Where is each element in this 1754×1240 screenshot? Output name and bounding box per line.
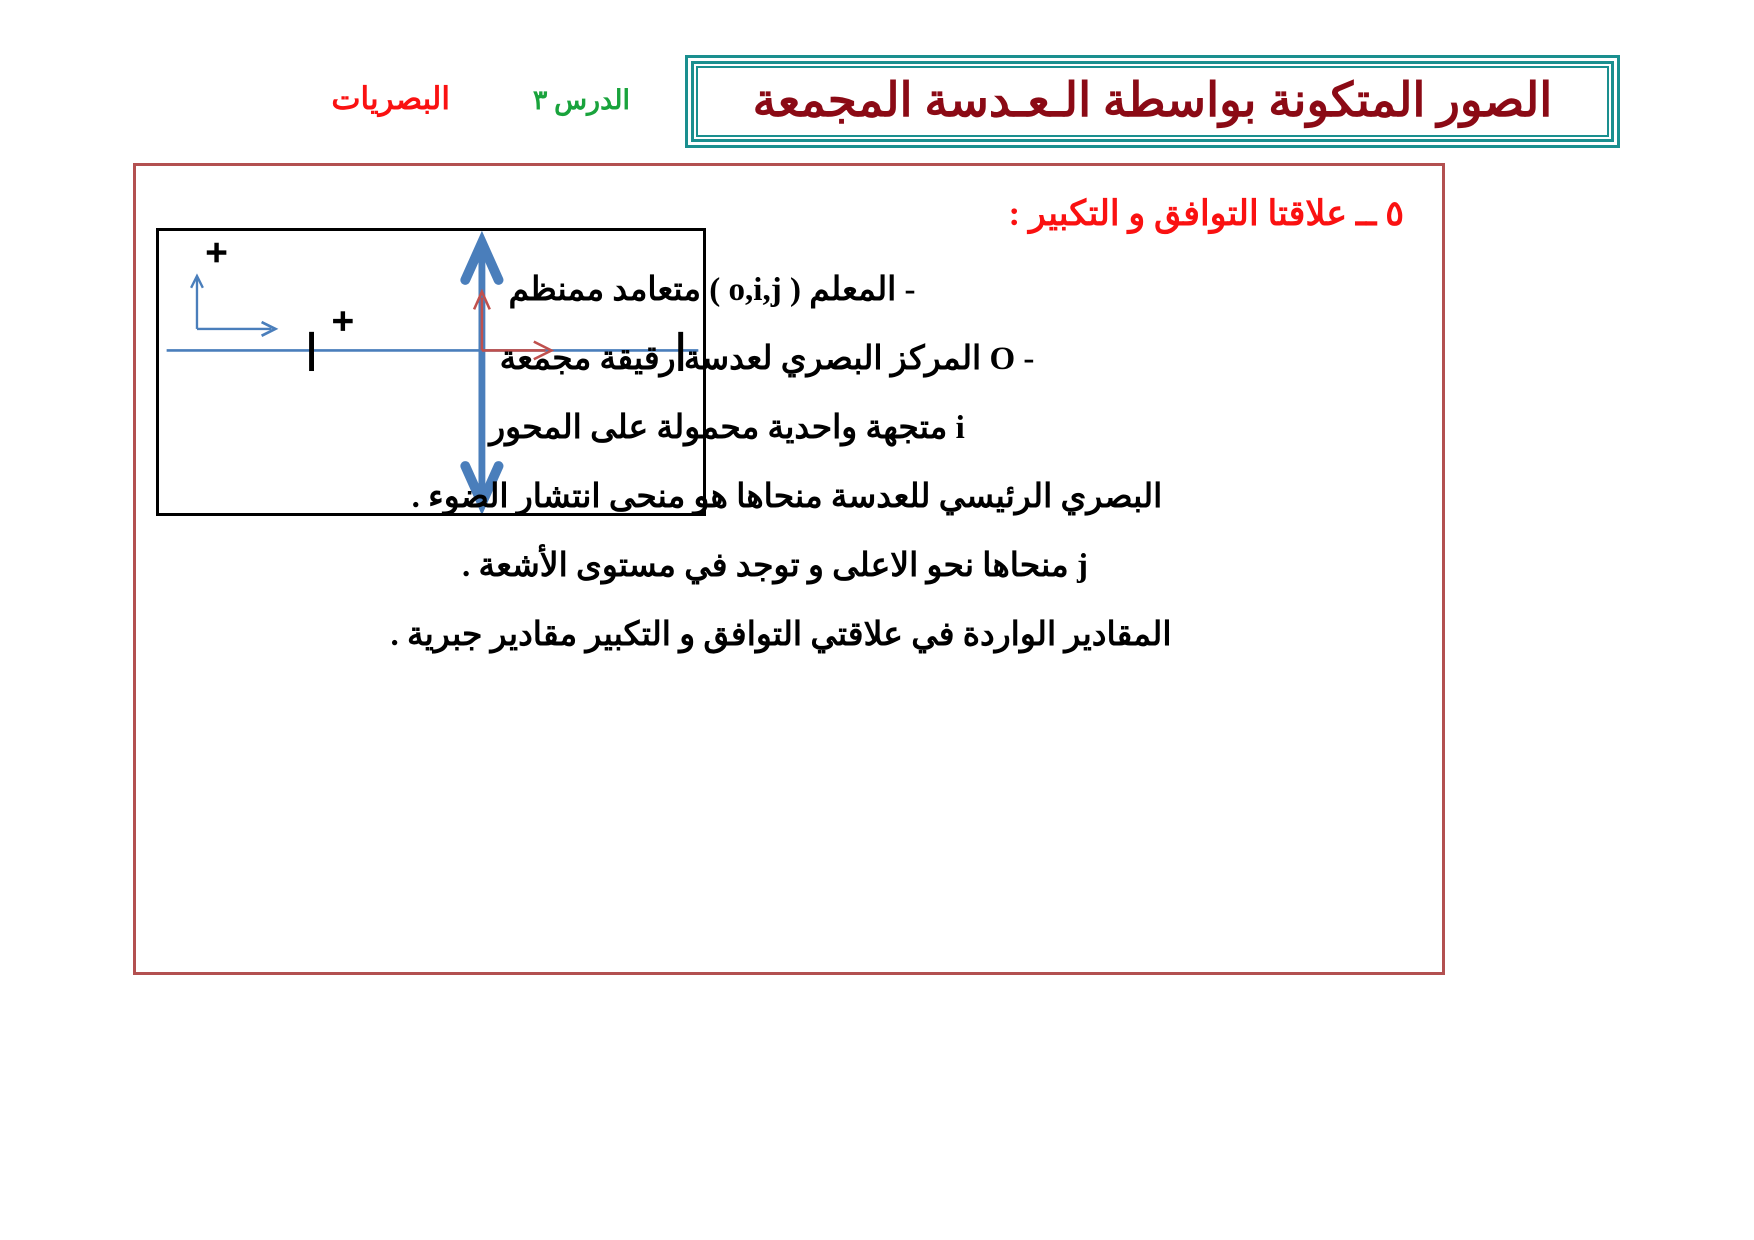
section-heading: ٥ ــ علاقتا التوافق و التكبير :: [1009, 194, 1405, 234]
title-box-border-inner: الصور المتكونة بواسطة الـعـدسة المجمعة: [696, 66, 1609, 137]
content-frame: ٥ ــ علاقتا التوافق و التكبير :: [133, 163, 1445, 975]
body-line-3: i متجهة واحدية محمولة على المحور: [152, 412, 1422, 445]
slide-canvas: الصور المتكونة بواسطة الـعـدسة المجمعة ا…: [0, 0, 1754, 1240]
body-line-2: - O المركز البصري لعدسة رقيقة مجمعة: [152, 343, 1422, 376]
subject-label: البصريات: [331, 81, 450, 117]
page-title: الصور المتكونة بواسطة الـعـدسة المجمعة: [753, 78, 1553, 125]
body-text-block: - المعلم ( o,i,j ) متعامد ممنظم - O المر…: [152, 274, 1422, 688]
title-box-border-middle: الصور المتكونة بواسطة الـعـدسة المجمعة: [691, 61, 1614, 142]
slide-header: الصور المتكونة بواسطة الـعـدسة المجمعة ا…: [150, 55, 1620, 150]
body-line-1: - المعلم ( o,i,j ) متعامد ممنظم: [152, 274, 1422, 307]
body-line-6: المقادير الواردة في علاقتي التوافق و الت…: [152, 619, 1422, 652]
body-line-5: j منحاها نحو الاعلى و توجد في مستوى الأش…: [152, 550, 1422, 583]
lesson-number-label: الدرس ٣: [533, 85, 630, 116]
body-line-4: البصري الرئيسي للعدسة منحاها هو منحى انت…: [152, 481, 1422, 514]
plus-mark-upper-icon: [207, 243, 227, 263]
title-box: الصور المتكونة بواسطة الـعـدسة المجمعة: [685, 55, 1620, 148]
